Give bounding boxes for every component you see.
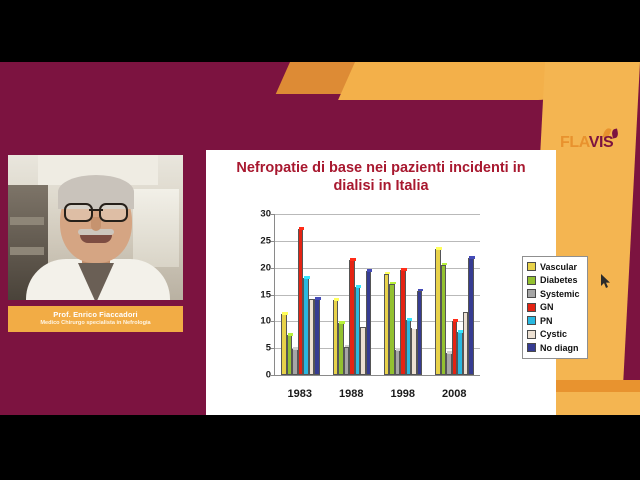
legend-item: No diagn: [527, 341, 583, 355]
legend-item: GN: [527, 301, 583, 315]
flavis-logo: FLAVIS: [560, 128, 632, 152]
legend-label: GN: [540, 302, 554, 312]
x-axis-labels: 1983198819982008: [274, 388, 480, 400]
glasses-icon: [64, 203, 128, 218]
legend-swatch: [527, 343, 536, 352]
legend-label: PN: [540, 316, 553, 326]
legend-swatch: [527, 316, 536, 325]
speaker-role: Medico Chirurgo specialista in Nefrologi…: [40, 320, 150, 327]
y-axis-tick-mark: [271, 375, 275, 376]
bar-group: [429, 214, 480, 375]
bar-group: [326, 214, 377, 375]
bar-groups: [275, 214, 480, 375]
legend-item: Cystic: [527, 328, 583, 342]
bar: [468, 258, 474, 375]
bar: [314, 299, 320, 375]
legend-item: PN: [527, 314, 583, 328]
legend-item: Diabetes: [527, 274, 583, 288]
y-axis-tick-label: 20: [260, 262, 271, 273]
window: [133, 189, 179, 267]
legend-item: Vascular: [527, 260, 583, 274]
legend-label: Systemic: [540, 289, 580, 299]
x-axis-tick-label: 1983: [274, 388, 326, 400]
bar-chart: 051015202530 1983198819982008: [244, 210, 480, 402]
y-axis-tick-label: 30: [260, 209, 271, 220]
legend-swatch: [527, 289, 536, 298]
presentation-slide: Nefropatie di base nei pazienti incident…: [206, 150, 556, 415]
plot-area: 051015202530: [274, 214, 480, 376]
x-axis-tick-label: 1988: [326, 388, 378, 400]
legend-label: Diabetes: [540, 275, 578, 285]
y-axis-tick-label: 25: [260, 235, 271, 246]
legend-label: Vascular: [540, 262, 577, 272]
slide-backdrop: Prof. Enrico Fiaccadori Medico Chirurgo …: [0, 62, 640, 415]
y-axis-tick-label: 15: [260, 289, 271, 300]
legend-item: Systemic: [527, 287, 583, 301]
speaker-name: Prof. Enrico Fiaccadori: [53, 311, 137, 320]
bar-group: [378, 214, 429, 375]
y-axis-tick-label: 10: [260, 316, 271, 327]
speaker-name-banner: Prof. Enrico Fiaccadori Medico Chirurgo …: [8, 306, 183, 332]
legend-swatch: [527, 303, 536, 312]
legend-swatch: [527, 262, 536, 271]
legend-label: Cystic: [540, 329, 567, 339]
speaker-video-feed[interactable]: [8, 155, 183, 300]
shelf-board-1: [10, 217, 44, 225]
flavis-logo-part2: VIS: [589, 134, 614, 151]
bar: [366, 271, 372, 375]
legend-swatch: [527, 330, 536, 339]
chart-legend: VascularDiabetesSystemicGNPNCysticNo dia…: [522, 256, 588, 359]
bar-group: [275, 214, 326, 375]
mouth: [80, 235, 112, 243]
slide-title: Nefropatie di base nei pazienti incident…: [220, 160, 542, 195]
screen: Prof. Enrico Fiaccadori Medico Chirurgo …: [0, 0, 640, 480]
x-axis-tick-label: 1998: [377, 388, 429, 400]
shelf-board-2: [10, 247, 44, 255]
x-axis-tick-label: 2008: [429, 388, 481, 400]
bar: [417, 291, 423, 375]
legend-swatch: [527, 276, 536, 285]
flavis-logo-part1: FLA: [560, 134, 589, 151]
legend-label: No diagn: [540, 343, 579, 353]
